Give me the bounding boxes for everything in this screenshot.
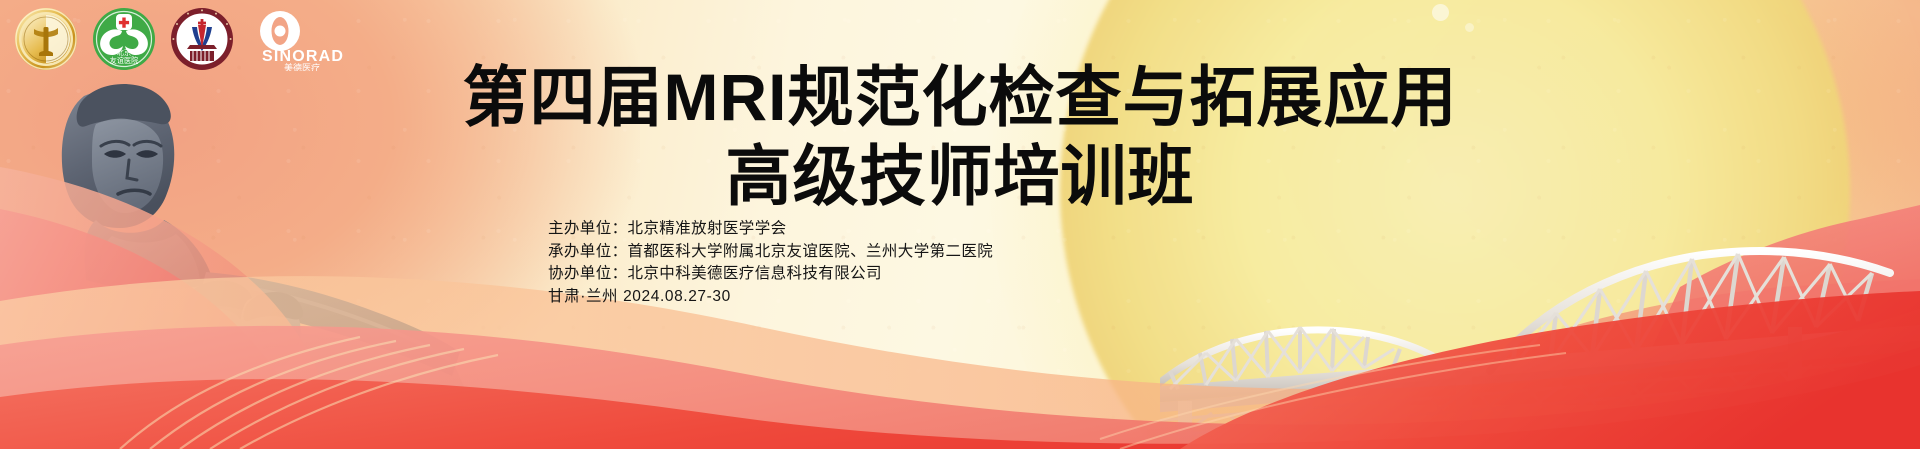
sinorad-logo: SINORAD 美德医疗 <box>248 7 352 71</box>
svg-text:SINORAD: SINORAD <box>262 48 344 65</box>
organizer-line-host: 主办单位：北京精准放射医学学会 <box>548 218 993 241</box>
svg-text:美德医疗: 美德医疗 <box>284 62 320 71</box>
beijing-friendship-hospital-logo: 北京 友谊医院 <box>92 7 156 71</box>
organizer-line-coorganizer: 协办单位：北京中科美德医疗信息科技有限公司 <box>548 263 993 286</box>
beijing-precision-radiology-society-logo <box>14 7 78 71</box>
conference-banner: 北京 友谊医院 <box>0 0 1920 449</box>
organizer-line-undertaker: 承办单位：首都医科大学附属北京友谊医院、兰州大学第二医院 <box>548 241 993 264</box>
logo-strip: 北京 友谊医院 <box>14 6 366 72</box>
svg-text:友谊医院: 友谊医院 <box>110 56 139 65</box>
location-date: 甘肃·兰州 2024.08.27-30 <box>548 286 993 309</box>
organizer-info-block: 主办单位：北京精准放射医学学会 承办单位：首都医科大学附属北京友谊医院、兰州大学… <box>548 218 993 308</box>
lanzhou-university-second-hospital-logo <box>170 7 234 71</box>
